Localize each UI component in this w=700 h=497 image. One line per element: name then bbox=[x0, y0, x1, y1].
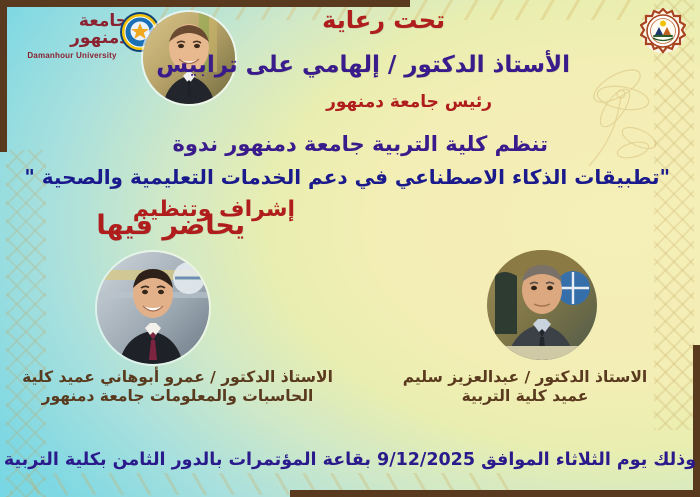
patronage-label: تحت رعاية bbox=[322, 6, 445, 34]
floral-ornament-icon bbox=[577, 46, 672, 176]
seminar-title: "تطبيقات الذكاء الاصطناعي في دعم الخدمات… bbox=[24, 165, 670, 189]
frame-bar-left bbox=[0, 0, 7, 152]
faculty-of-education-seal-icon bbox=[640, 8, 686, 54]
university-script-label: جامعة دمنهور bbox=[16, 13, 128, 47]
lecturers-label: يحاضر فيها bbox=[96, 210, 245, 241]
speaker-name-right: الاستاذ الدكتور / عبدالعزيز سليم عميد كل… bbox=[365, 368, 685, 407]
frame-bar-right bbox=[693, 345, 700, 497]
damanhour-university-logo: جامعة دمنهور Damanhour University bbox=[16, 14, 128, 58]
frame-bar-bottom bbox=[290, 490, 700, 497]
speaker-photo-amr-abouhani bbox=[97, 252, 209, 364]
speaker-name-left: الاستاذ الدكتور / عمرو أبوهاني عميد كلية… bbox=[5, 368, 350, 407]
president-title: رئيس جامعة دمنهور bbox=[326, 92, 492, 112]
date-venue-line: وذلك يوم الثلاثاء الموافق 9/12/2025 بقاع… bbox=[0, 450, 700, 470]
president-name: الأستاذ الدكتور / إلهامي على ترابيس bbox=[156, 52, 570, 78]
speaker-left-line1: الاستاذ الدكتور / عمرو أبوهاني عميد كلية bbox=[5, 368, 350, 387]
event-poster: جامعة دمنهور Damanhour University bbox=[0, 0, 700, 497]
speaker-right-line1: الاستاذ الدكتور / عبدالعزيز سليم bbox=[365, 368, 685, 387]
university-english-label: Damanhour University bbox=[27, 51, 116, 60]
speaker-photo-abdelaziz-salim bbox=[487, 250, 597, 360]
ornament-right-strip bbox=[654, 0, 694, 430]
organizer-line: تنظم كلية التربية جامعة دمنهور ندوة bbox=[173, 132, 549, 156]
speaker-right-line2: عميد كلية التربية bbox=[365, 387, 685, 406]
speaker-left-line2: الحاسبات والمعلومات جامعة دمنهور bbox=[5, 387, 350, 406]
ornament-left-strip bbox=[6, 150, 46, 497]
